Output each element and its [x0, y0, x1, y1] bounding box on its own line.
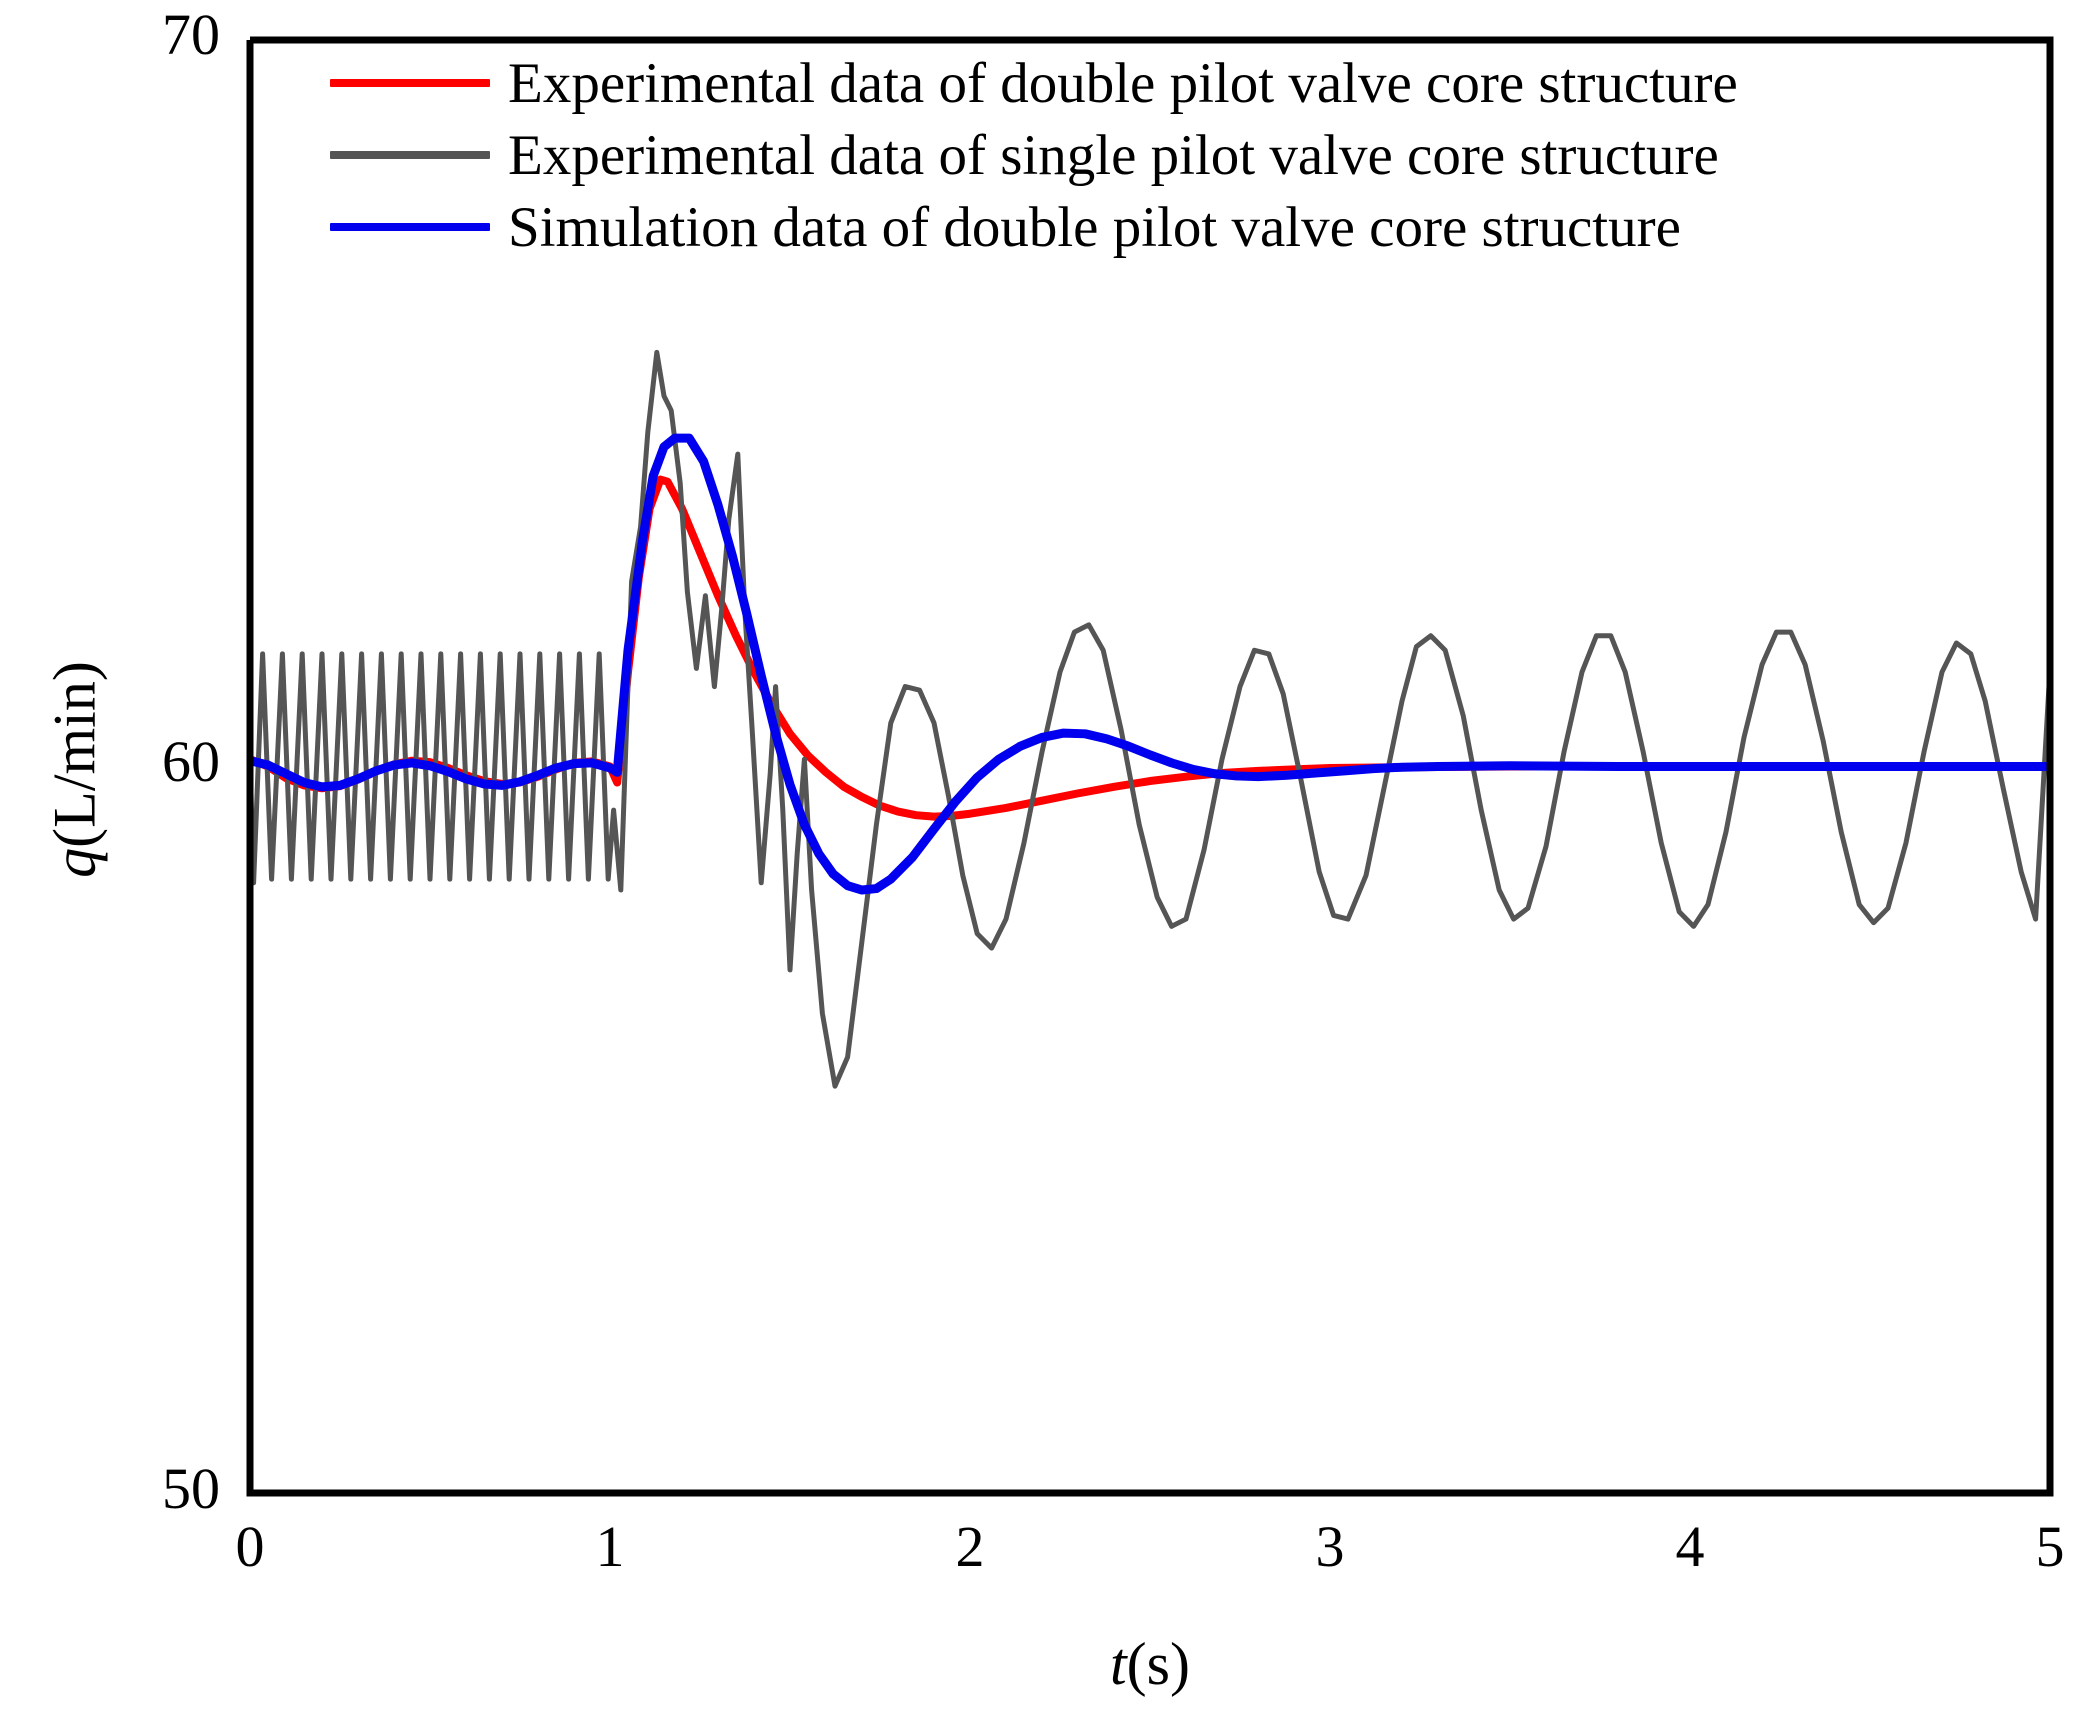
legend-label-experimental-double: Experimental data of double pilot valve … — [508, 55, 1738, 112]
x-tick-label-3: 3 — [1270, 1518, 1390, 1576]
x-tick-label-2: 2 — [910, 1518, 1030, 1576]
y-axis-title-unit: (L/min) — [42, 661, 108, 848]
plot-area — [0, 0, 2092, 1728]
x-axis-title: t(s) — [950, 1630, 1350, 1699]
x-axis-title-unit: (s) — [1127, 1631, 1190, 1697]
chart-legend: Experimental data of double pilot valve … — [330, 52, 1738, 258]
x-tick-label-1: 1 — [550, 1518, 670, 1576]
legend-swatch-blue — [330, 223, 490, 231]
chart-figure: 70 60 50 0 1 2 3 4 5 q(L/min) t(s) Exper… — [0, 0, 2092, 1728]
y-tick-label-50: 50 — [60, 1460, 220, 1518]
legend-swatch-red — [330, 79, 490, 87]
x-tick-label-4: 4 — [1630, 1518, 1750, 1576]
legend-item-experimental-double: Experimental data of double pilot valve … — [330, 52, 1738, 114]
legend-label-experimental-single: Experimental data of single pilot valve … — [508, 127, 1719, 184]
legend-label-simulation-double: Simulation data of double pilot valve co… — [508, 199, 1681, 256]
y-axis-title: q(L/min) — [41, 570, 110, 970]
legend-swatch-gray — [330, 151, 490, 159]
x-tick-label-5: 5 — [1990, 1518, 2092, 1576]
x-axis-title-symbol: t — [1110, 1631, 1127, 1697]
series-layer — [250, 352, 2050, 1086]
x-tick-label-0: 0 — [190, 1518, 310, 1576]
series-line-2 — [250, 352, 2050, 1086]
y-axis-title-symbol: q — [42, 848, 108, 878]
y-tick-label-70: 70 — [60, 6, 220, 64]
legend-item-experimental-single: Experimental data of single pilot valve … — [330, 124, 1738, 186]
clipped-series — [250, 352, 2050, 1086]
legend-item-simulation-double: Simulation data of double pilot valve co… — [330, 196, 1738, 258]
